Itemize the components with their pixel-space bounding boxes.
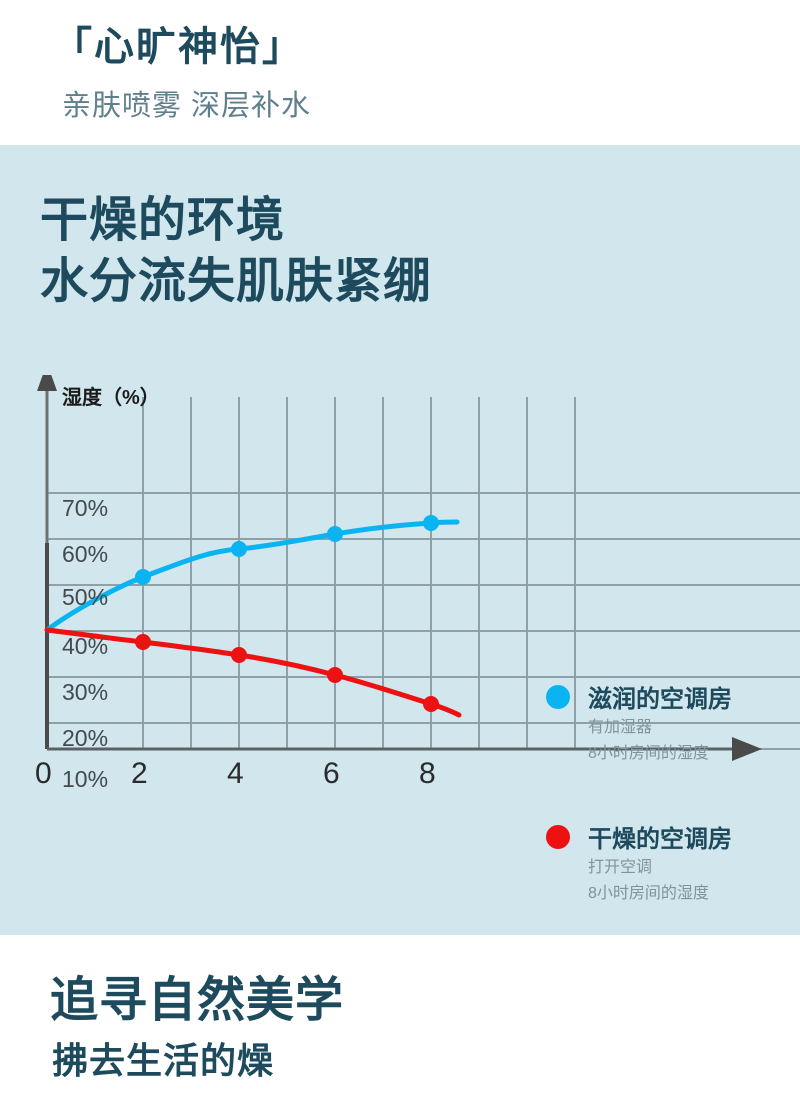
- series-line-blue: [47, 515, 457, 630]
- y-tick-20: 20%: [62, 725, 108, 752]
- legend-sub2-blue: 8小时房间的湿度: [588, 739, 709, 763]
- y-tick-50: 50%: [62, 584, 108, 611]
- panel-heading-line2: 水分流失肌肤紧绷: [40, 251, 432, 312]
- data-point-blue-8: [423, 515, 439, 531]
- vertical-gridlines: [143, 397, 575, 749]
- legend-sub1-red: 打开空调: [588, 853, 652, 877]
- footer-title: 追寻自然美学: [50, 960, 344, 1030]
- panel-heading-line1: 干燥的环境: [40, 194, 285, 247]
- y-axis: [37, 375, 57, 749]
- data-point-red-6: [327, 667, 343, 683]
- data-point-blue-2: [135, 569, 151, 585]
- data-point-red-8: [423, 696, 439, 712]
- data-point-red-2: [135, 634, 151, 650]
- y-tick-60: 60%: [62, 541, 108, 568]
- x-tick-6: 6: [323, 757, 340, 791]
- legend-dot-red-icon: [546, 825, 570, 849]
- x-tick-8: 8: [419, 757, 436, 791]
- x-tick-0: 0: [35, 757, 52, 791]
- data-point-red-4: [231, 647, 247, 663]
- x-tick-4: 4: [227, 757, 244, 791]
- y-axis-label: 湿度（%）: [62, 381, 160, 410]
- chart-canvas: [0, 375, 800, 895]
- y-tick-30: 30%: [62, 679, 108, 706]
- header-band: 「心旷神怡」 亲肤喷雾 深层补水: [0, 0, 800, 145]
- legend-title-red: 干燥的空调房: [588, 819, 732, 854]
- poster-page: 「心旷神怡」 亲肤喷雾 深层补水 干燥的环境 水分流失肌肤紧绷 湿度（%）: [0, 0, 800, 1100]
- header-subtitle: 亲肤喷雾 深层补水: [62, 82, 311, 124]
- data-point-blue-4: [231, 541, 247, 557]
- x-tick-2: 2: [131, 757, 148, 791]
- feature-panel: 干燥的环境 水分流失肌肤紧绷 湿度（%）: [0, 145, 800, 935]
- legend-sub2-red: 8小时房间的湿度: [588, 879, 709, 903]
- humidity-chart: 湿度（%）: [0, 375, 800, 895]
- footer-subtitle: 拂去生活的燥: [52, 1032, 274, 1084]
- series-line-red: [47, 630, 459, 715]
- y-tick-70: 70%: [62, 495, 108, 522]
- y-tick-40: 40%: [62, 633, 108, 660]
- legend-title-blue: 滋润的空调房: [588, 679, 732, 714]
- footer-band: 追寻自然美学 拂去生活的燥: [0, 935, 800, 1100]
- panel-heading: 干燥的环境 水分流失肌肤紧绷: [40, 190, 432, 313]
- header-title: 「心旷神怡」: [52, 14, 304, 72]
- y-tick-10: 10%: [62, 766, 108, 793]
- legend-dot-blue-icon: [546, 685, 570, 709]
- legend-sub1-blue: 有加湿器: [588, 713, 652, 737]
- data-point-blue-6: [327, 526, 343, 542]
